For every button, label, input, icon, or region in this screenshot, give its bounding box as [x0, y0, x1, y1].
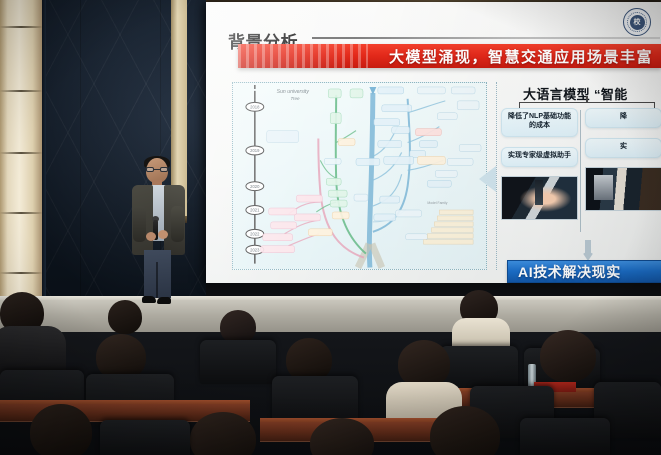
svg-text:2020: 2020: [250, 184, 260, 189]
svg-text:Model Family: Model Family: [427, 201, 447, 205]
capability-column-2: 降 实: [585, 108, 661, 238]
university-seal-icon: 校: [623, 8, 651, 36]
svg-text:2018: 2018: [250, 104, 260, 109]
presentation-photo-scene: 背景分析 大模型涌现，智慧交通应用场景丰富 校: [0, 0, 661, 455]
right-panel-heading: 大语言模型 “智能: [523, 84, 628, 103]
chair-back: [100, 420, 190, 455]
presenter-hand-left: [146, 232, 156, 241]
attendee-center-mid-head: [220, 310, 256, 344]
svg-text:2019: 2019: [250, 148, 260, 153]
llm-evolutionary-tree-panel: 2018 2019 2020 2021 2022 2023 Sun univer…: [232, 82, 487, 270]
down-arrow-icon: [582, 240, 594, 262]
capability-chip: 降: [585, 108, 661, 128]
svg-text:2023: 2023: [250, 247, 260, 252]
presenter: [127, 158, 189, 308]
red-banner-text: 大模型涌现，智慧交通应用场景丰富: [389, 46, 653, 67]
presenter-arm-left: [133, 206, 146, 242]
attendee-right-front-head: [398, 340, 450, 388]
capability-chip: 实: [585, 138, 661, 158]
attendee-far-right-head: [540, 330, 596, 382]
attendee-front-left-head: [30, 404, 92, 455]
vending-kiosk-photo: [585, 167, 661, 211]
conclusion-banner-text: AI技术解决现实: [518, 262, 621, 282]
laptop-robot-photo: [501, 176, 578, 220]
capability-chip: 降低了NLP基础功能的成本: [501, 108, 578, 137]
llm-capability-panel: 大语言模型 “智能 降低了NLP基础功能的成本 实现专家级虚拟助手 降 实: [496, 82, 661, 270]
conclusion-banner: AI技术解决现实: [507, 260, 661, 283]
presenter-shoe-right: [157, 297, 171, 304]
status-badge: 大模型涌现，智慧交通应用场景丰富: [238, 44, 661, 68]
svg-text:Tree: Tree: [291, 96, 300, 101]
chair-back: [520, 418, 610, 455]
svg-text:2022: 2022: [250, 231, 260, 236]
attendee-left-front-torso: [0, 326, 66, 376]
chair-back: [200, 340, 276, 384]
capability-column-1: 降低了NLP基础功能的成本 实现专家级虚拟助手: [501, 108, 578, 238]
presenter-hand-right: [158, 230, 168, 239]
presenter-shoe-left: [142, 296, 156, 303]
llm-tree-diagram: 2018 2019 2020 2021 2022 2023 Sun univer…: [233, 83, 486, 270]
glasses-icon: [146, 167, 168, 172]
left-chevron-icon: [479, 166, 496, 192]
presenter-leg-seam: [156, 262, 158, 298]
title-divider: [312, 37, 660, 39]
capability-columns: 降低了NLP基础功能的成本 实现专家级虚拟助手 降 实: [501, 108, 661, 238]
capability-chip: 实现专家级虚拟助手: [501, 147, 578, 167]
column-edge-shadow: [42, 0, 46, 300]
svg-text:2021: 2021: [250, 208, 260, 213]
presenter-arm-right: [171, 206, 184, 242]
bracket-stem: [586, 96, 588, 103]
svg-text:Sun university: Sun university: [277, 89, 310, 95]
projection-screen: 背景分析 大模型涌现，智慧交通应用场景丰富 校: [206, 2, 661, 283]
cream-column: [0, 0, 42, 300]
